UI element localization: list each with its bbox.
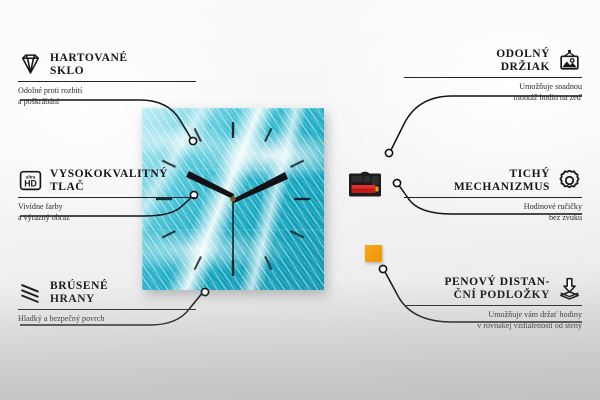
feature-desc: Umožňuje snadnou montáž hodin na zeď xyxy=(404,82,582,103)
title-rule xyxy=(404,77,582,78)
node-holder xyxy=(385,149,392,156)
feature-head: ultra HD VYSOKOKVALITNÝ TLAČ xyxy=(18,168,196,193)
ultra-hd-icon-large-text: HD xyxy=(24,178,37,188)
feature-desc: Hodinové ručičky bez zvuku xyxy=(404,202,582,223)
foam-spacer-icon xyxy=(557,276,582,301)
feature-head: ODOLNÝ DRŽIAK xyxy=(404,48,582,73)
infographic-canvas: HARTOVANÉ SKLO Odolné proti rozbití a po… xyxy=(0,0,600,400)
feature-title: VYSOKOKVALITNÝ TLAČ xyxy=(50,168,168,193)
feature-head: HARTOVANÉ SKLO xyxy=(18,52,196,77)
title-rule xyxy=(18,81,196,82)
title-rule xyxy=(18,309,196,310)
feature-title: PENOVÝ DISTAN- ČNÍ PODLOŽKY xyxy=(444,276,550,301)
diamond-icon xyxy=(18,52,43,77)
feature-title: BRÚSENÉ HRANY xyxy=(50,280,108,305)
title-rule xyxy=(404,197,582,198)
feature-title: ODOLNÝ DRŽIAK xyxy=(496,48,550,73)
feature-ground-edges: BRÚSENÉ HRANY Hladký a bezpečný povrch xyxy=(18,280,196,325)
wire-holder xyxy=(390,96,582,152)
feature-desc: Odolné proti rozbití a poškrábání xyxy=(18,86,196,107)
node-glass xyxy=(189,137,196,144)
feature-foam-spacers: PENOVÝ DISTAN- ČNÍ PODLOŽKY Umožňuje vám… xyxy=(404,276,582,331)
feature-head: TICHÝ MECHANIZMUS xyxy=(404,168,582,193)
title-rule xyxy=(404,305,582,306)
feature-head: BRÚSENÉ HRANY xyxy=(18,280,196,305)
gear-icon xyxy=(557,168,582,193)
feature-tempered-glass: HARTOVANÉ SKLO Odolné proti rozbití a po… xyxy=(18,52,196,107)
feature-title: TICHÝ MECHANIZMUS xyxy=(454,168,550,193)
feature-holder: ODOLNÝ DRŽIAK Umožňuje snadnou montáž ho… xyxy=(404,48,582,103)
title-rule xyxy=(18,197,196,198)
ground-edges-icon xyxy=(18,280,43,305)
feature-head: PENOVÝ DISTAN- ČNÍ PODLOŽKY xyxy=(404,276,582,301)
feature-title: HARTOVANÉ SKLO xyxy=(50,52,128,77)
feature-hd-print: ultra HD VYSOKOKVALITNÝ TLAČ Vivídne far… xyxy=(18,168,196,223)
feature-desc: Hladký a bezpečný povrch xyxy=(18,314,196,324)
node-edges xyxy=(201,288,208,295)
feature-desc: Vivídne farby a výrazný obraz xyxy=(18,202,196,223)
feature-silent-mechanism: TICHÝ MECHANIZMUS Hodinové ručičky bez z… xyxy=(404,168,582,223)
node-mechanism xyxy=(393,179,400,186)
ultra-hd-icon: ultra HD xyxy=(18,168,43,193)
node-foam xyxy=(379,265,386,272)
feature-desc: Umožňuje vám držať hodiny v rovnakej vzd… xyxy=(404,310,582,331)
picture-frame-hanger-icon xyxy=(557,48,582,73)
